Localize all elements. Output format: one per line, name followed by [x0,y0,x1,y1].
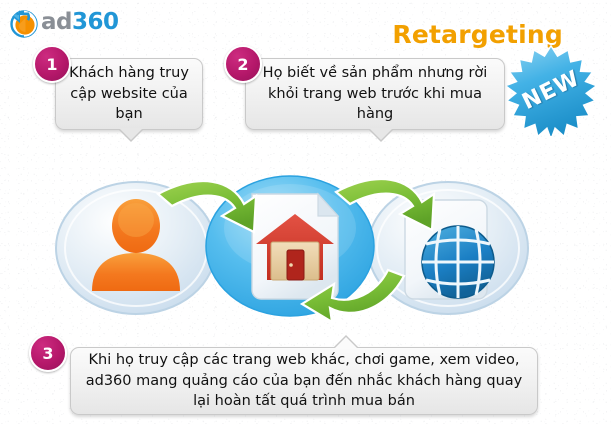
step-3-text: Khi họ truy cập các trang web khác, chơi… [81,350,527,412]
step-3-badge: 3 [29,334,67,372]
callout-tail-fill [334,337,358,349]
circular-refresh-arrow-icon [8,7,40,39]
visitor-node [56,182,216,314]
step-2-badge: 2 [224,45,262,83]
step-2-callout: Họ biết về sản phẩm nhưng rời khỏi trang… [245,58,505,130]
step-1-callout: Khách hàng truy cập website của bạn [55,58,203,130]
logo-text-360: 360 [72,9,119,35]
step-2-text: Họ biết về sản phẩm nhưng rời khỏi trang… [256,63,494,125]
callout-tail-fill [119,128,143,140]
logo-wordmark: ad360 [41,7,119,37]
step-1-badge: 1 [33,45,71,83]
step-1-text: Khách hàng truy cập website của bạn [66,63,192,125]
document-house-icon [252,194,338,299]
logo-text-ad: ad [41,9,72,35]
new-badge: NEW [505,44,597,136]
step-3-callout: Khi họ truy cập các trang web khác, chơi… [70,347,538,415]
callout-tail-fill [369,128,393,140]
ad360-logo[interactable]: ad360 [8,6,128,40]
infographic-canvas: ad360 Retargeting NEW Khách hàng truy cậ… [0,0,611,425]
retargeting-flow-diagram [40,158,540,333]
